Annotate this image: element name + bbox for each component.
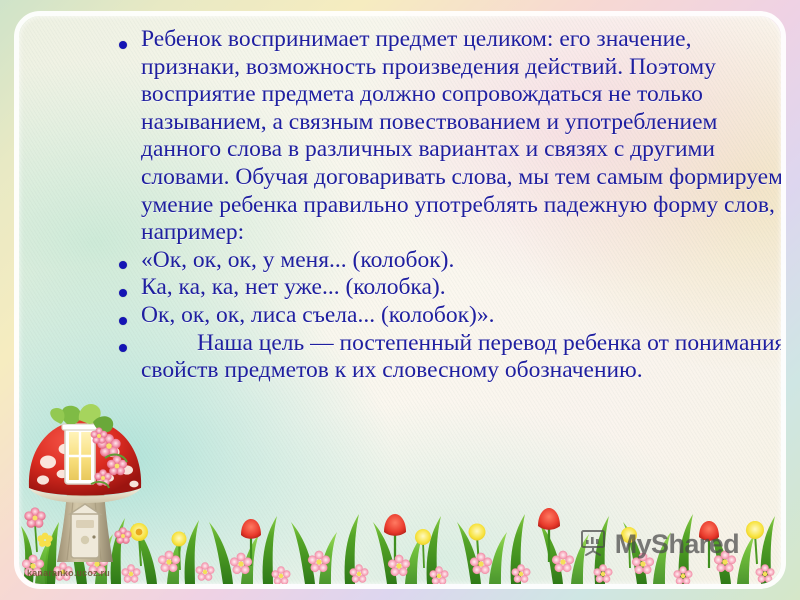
bullet-text: Ка, ка, ка, нет уже... (колобка). bbox=[141, 274, 446, 300]
bullet-dot-icon bbox=[119, 289, 127, 297]
site-watermark: kanaranko.ucoz.ru bbox=[27, 568, 110, 578]
slide-root: Ребенок воспринимает предмет целиком: ег… bbox=[0, 0, 800, 600]
bullet-dot-icon bbox=[119, 344, 127, 352]
bullet-text: Ок, ок, ок, лиса съела... (колобок)». bbox=[141, 302, 495, 328]
mushroom-door bbox=[70, 504, 100, 558]
bullet-example-2: Ка, ка, ка, нет уже... (колобка). bbox=[109, 274, 781, 302]
bullet-example-1: «Ок, ок, ок, у меня... (колобок). bbox=[109, 247, 781, 275]
myshared-label: MyShared bbox=[615, 531, 739, 558]
myshared-watermark: MyShared bbox=[578, 527, 739, 562]
bullet-dot-icon bbox=[119, 317, 127, 325]
presentation-board-icon bbox=[578, 527, 608, 562]
slide-text-content: Ребенок воспринимает предмет целиком: ег… bbox=[109, 26, 781, 385]
bullet-main-paragraph: Ребенок воспринимает предмет целиком: ег… bbox=[109, 26, 781, 247]
bullet-example-3: Ок, ок, ок, лиса съела... (колобок)». bbox=[109, 302, 781, 330]
slide-canvas: Ребенок воспринимает предмет целиком: ег… bbox=[19, 16, 781, 584]
mushroom-house-illustration bbox=[21, 400, 153, 572]
bullet-dot-icon bbox=[119, 41, 127, 49]
bullet-dot-icon bbox=[119, 261, 127, 269]
bullet-text: «Ок, ок, ок, у меня... (колобок). bbox=[141, 247, 454, 273]
bullet-text: Наша цель — постепенный перевод ребенка … bbox=[141, 330, 781, 384]
bullet-text: Ребенок воспринимает предмет целиком: ег… bbox=[141, 26, 781, 245]
bullet-list: Ребенок воспринимает предмет целиком: ег… bbox=[109, 26, 781, 385]
mushroom-house-svg bbox=[21, 400, 153, 572]
bullet-goal: Наша цель — постепенный перевод ребенка … bbox=[109, 330, 781, 385]
